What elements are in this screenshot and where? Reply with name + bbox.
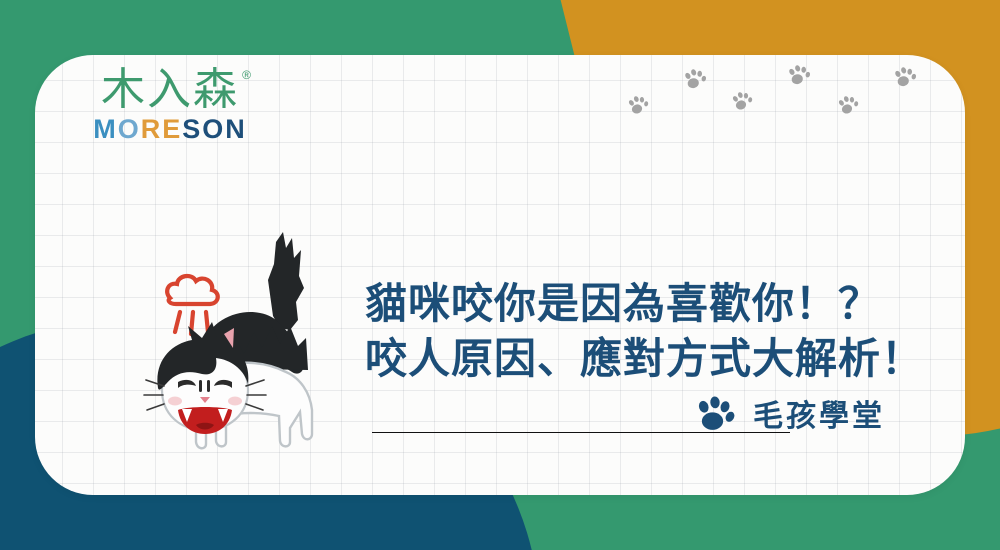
cat-brow-stroke-1: [199, 380, 202, 392]
paw-print-icon: [892, 62, 920, 90]
logo-letter-n: N: [225, 114, 247, 145]
logo-letter-e: E: [162, 114, 182, 145]
angry-cat-illustration: [140, 220, 355, 465]
headline-line-1: 貓咪咬你是因為喜歡你！？: [365, 277, 965, 332]
brand-logo[interactable]: 木入森 ® MORESON: [75, 67, 265, 145]
cat-brow-stroke-2: [207, 380, 210, 392]
logo-letter-m: M: [93, 114, 118, 145]
brand-logo-chinese: 木入森 ®: [101, 67, 239, 113]
brand-logo-english: MORESON: [75, 114, 265, 145]
logo-letter-o2: O: [202, 114, 225, 145]
paw-print-icon: [835, 90, 863, 118]
cat-blush-right: [228, 397, 242, 406]
headline: 貓咪咬你是因為喜歡你！？ 咬人原因、應對方式大解析！: [365, 277, 965, 386]
logo-letter-o1: O: [118, 114, 141, 145]
banner-canvas: 木入森 ® MORESON: [0, 0, 1000, 550]
brand-logo-chinese-text: 木入森: [101, 64, 239, 115]
paw-print-icon: [625, 90, 653, 118]
paw-print-icon: [786, 60, 814, 88]
cat-svg: [140, 220, 355, 465]
logo-letter-r: R: [141, 114, 163, 145]
cat-tail: [268, 232, 304, 330]
paw-print-icon: [695, 393, 735, 433]
category-badge[interactable]: 毛孩學堂: [695, 391, 885, 435]
headline-line-2: 咬人原因、應對方式大解析！: [365, 332, 965, 387]
registered-trademark-icon: ®: [242, 69, 253, 82]
paw-print-icon: [729, 86, 757, 114]
paw-print-icon: [682, 64, 710, 92]
logo-letter-s: S: [182, 114, 202, 145]
cat-blush-left: [168, 397, 182, 406]
category-badge-label: 毛孩學堂: [753, 391, 885, 435]
content-card: 木入森 ® MORESON: [35, 55, 965, 495]
